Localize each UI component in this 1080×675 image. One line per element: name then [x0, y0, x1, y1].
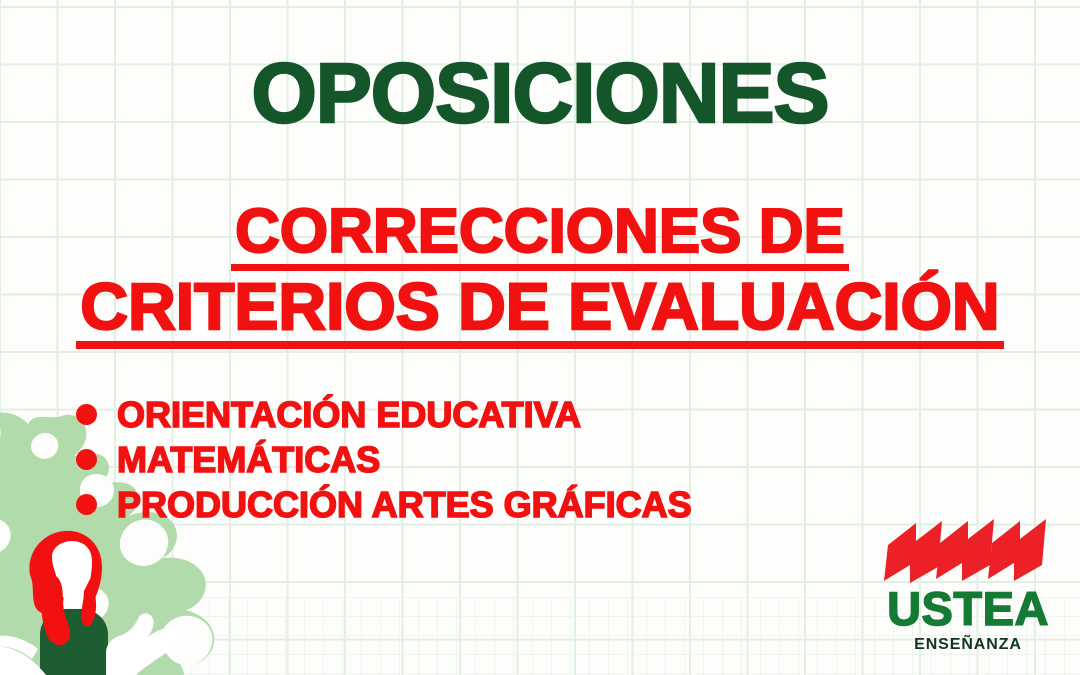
subtitle-line-2-text: CRITERIOS DE EVALUACIÓN [80, 274, 999, 338]
list-item-label: MATEMÁTICAS [117, 442, 380, 478]
subtitle-line-1: CORRECCIONES DE [0, 202, 1080, 267]
list-item-label: ORIENTACIÓN EDUCATIVA [117, 397, 581, 433]
logo-tagline: ENSEÑANZA [880, 637, 1056, 653]
bullet-dot-icon [76, 494, 97, 515]
list-item: PRODUCCIÓN ARTES GRÁFICAS [76, 482, 692, 527]
poster-subtitle: CORRECCIONES DE CRITERIOS DE EVALUACIÓN [0, 202, 1080, 343]
bullet-dot-icon [76, 404, 97, 425]
poster-content: OPOSICIONES CORRECCIONES DE CRITERIOS DE… [0, 0, 1080, 675]
bullet-dot-icon [76, 449, 97, 470]
list-item: MATEMÁTICAS [76, 437, 692, 482]
page-title: OPOSICIONES [0, 51, 1080, 135]
list-item-label: PRODUCCIÓN ARTES GRÁFICAS [117, 487, 692, 523]
ustea-logo: USTEA ENSEÑANZA [880, 517, 1056, 653]
zigzag-lightning-icon [880, 517, 1056, 587]
poster-canvas: OPOSICIONES CORRECCIONES DE CRITERIOS DE… [0, 0, 1080, 675]
specialty-list: ORIENTACIÓN EDUCATIVA MATEMÁTICAS PRODUC… [76, 392, 692, 527]
subtitle-line-1-text: CORRECCIONES DE [235, 202, 845, 262]
list-item: ORIENTACIÓN EDUCATIVA [76, 392, 692, 437]
logo-wordmark: USTEA [880, 585, 1056, 632]
subtitle-line-2: CRITERIOS DE EVALUACIÓN [0, 274, 1080, 343]
